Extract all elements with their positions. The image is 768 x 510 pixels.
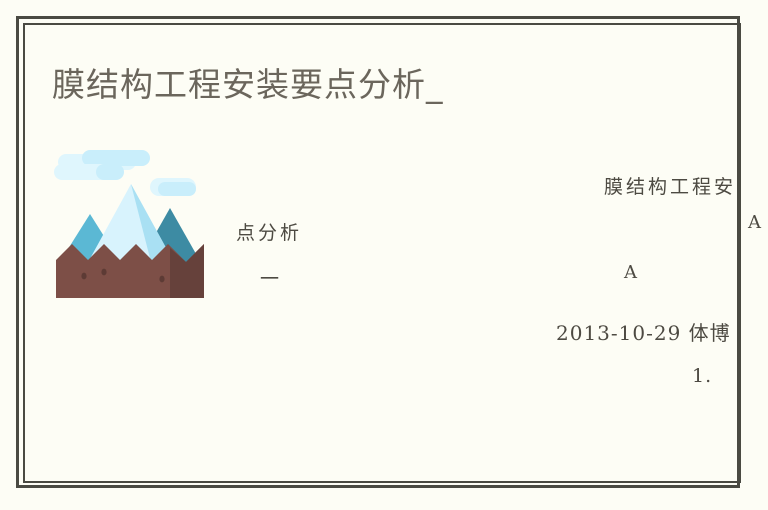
cloud-shapes [54, 150, 196, 196]
rock-dot [81, 273, 86, 280]
mountain-illustration [52, 148, 212, 298]
text-marker-a-top: A [748, 212, 761, 233]
text-date-line: 2013-10-29 体博 [556, 317, 731, 346]
text-list-item: 1. [692, 365, 712, 387]
rock-dot [159, 276, 164, 283]
text-marker-a-mid: A [624, 262, 637, 283]
text-headline-fragment: 膜结构工程安 [604, 172, 736, 199]
page-title: 膜结构工程安装要点分析_ [52, 62, 444, 108]
text-dash-mark: 一 [260, 264, 282, 291]
rock-dot [101, 269, 106, 276]
document-thumbnail: 膜结构工程安装要点分析_ [0, 0, 768, 510]
text-mid-fragment: 点分析 [236, 218, 302, 245]
